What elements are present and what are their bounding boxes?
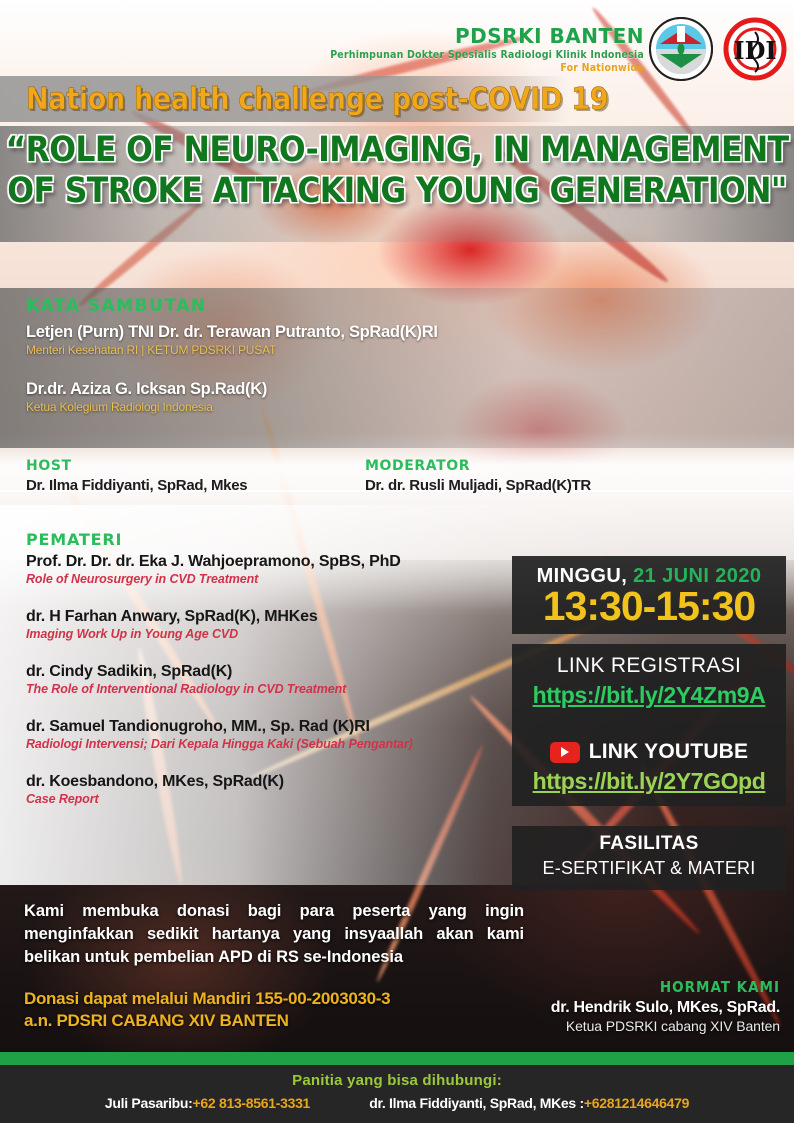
title-line-2: OF STROKE ATTACKING YOUNG GENERATION": [0, 171, 794, 212]
signature-name: dr. Hendrik Sulo, MKes, SpRad.: [551, 999, 780, 1017]
sambutan-person-role: Ketua Kolegium Radiologi Indonesia: [26, 400, 546, 414]
org-subtitle-secondary: For Nationwide: [330, 62, 644, 74]
footer-contact-name-2: dr. Ilma Fiddiyanti, SpRad, MKes :: [369, 1095, 584, 1111]
speaker-name: Prof. Dr. Dr. dr. Eka J. Wahjoepramono, …: [26, 553, 526, 571]
registration-label: LINK REGISTRASI: [512, 654, 786, 678]
footer-contact-number-1[interactable]: +62 813-8561-3331: [193, 1095, 311, 1111]
speaker-item: Prof. Dr. Dr. dr. Eka J. Wahjoepramono, …: [26, 553, 526, 586]
speaker-topic: Imaging Work Up in Young Age CVD: [26, 627, 526, 641]
page-title: “ROLE OF NEURO-IMAGING, IN MANAGEMENT OF…: [0, 130, 794, 211]
pemateri-heading: PEMATERI: [26, 530, 526, 549]
sambutan-person: Letjen (Purn) TNI Dr. dr. Terawan Putran…: [26, 323, 546, 357]
organization-header: PDSRKI BANTEN Perhimpunan Dokter Spesial…: [330, 24, 644, 74]
facilities-box: FASILITAS E-SERTIFIKAT & MATERI: [512, 826, 786, 890]
signature-heading: HORMAT KAMI: [551, 978, 780, 996]
speaker-item: dr. Koesbandono, MKes, SpRad(K) Case Rep…: [26, 773, 526, 806]
registration-link[interactable]: https://bit.ly/2Y4Zm9A: [512, 682, 786, 709]
host-heading: HOST: [26, 458, 247, 474]
host-name: Dr. Ilma Fiddiyanti, SpRad, Mkes: [26, 477, 247, 494]
speaker-item: dr. Samuel Tandionugroho, MM., Sp. Rad (…: [26, 718, 526, 751]
speaker-name: dr. H Farhan Anwary, SpRad(K), MHKes: [26, 608, 526, 626]
schedule-time: 13:30-15:30: [512, 586, 786, 627]
donation-account-line-2: a.n. PDSRI CABANG XIV BANTEN: [24, 1010, 524, 1032]
sambutan-person: Dr.dr. Aziza G. Icksan Sp.Rad(K) Ketua K…: [26, 380, 546, 414]
pemateri-section: PEMATERI Prof. Dr. Dr. dr. Eka J. Wahjoe…: [26, 530, 526, 806]
speaker-item: dr. Cindy Sadikin, SpRad(K) The Role of …: [26, 663, 526, 696]
org-subtitle: Perhimpunan Dokter Spesialis Radiologi K…: [330, 49, 644, 61]
facilities-heading: FASILITAS: [512, 833, 786, 855]
footer-heading: Panitia yang bisa dihubungi:: [0, 1072, 794, 1089]
speaker-topic: Radiologi Intervensi; Dari Kepala Hingga…: [26, 737, 526, 751]
speaker-name: dr. Cindy Sadikin, SpRad(K): [26, 663, 526, 681]
youtube-icon: [550, 742, 580, 763]
donation-paragraph: Kami membuka donasi bagi para peserta ya…: [24, 900, 524, 968]
speaker-item: dr. H Farhan Anwary, SpRad(K), MHKes Ima…: [26, 608, 526, 641]
sambutan-person-name: Dr.dr. Aziza G. Icksan Sp.Rad(K): [26, 380, 546, 399]
title-line-1: “ROLE OF NEURO-IMAGING, IN MANAGEMENT: [5, 130, 788, 170]
host-moderator-row: HOST Dr. Ilma Fiddiyanti, SpRad, Mkes MO…: [0, 458, 794, 514]
footer-contacts: Juli Pasaribu:+62 813-8561-3331 dr. Ilma…: [0, 1095, 794, 1111]
footer: Panitia yang bisa dihubungi: Juli Pasari…: [0, 1065, 794, 1123]
idi-logo: IDI: [722, 16, 788, 82]
signature-role: Ketua PDSRKI cabang XIV Banten: [551, 1018, 780, 1034]
sambutan-person-role: Menteri Kesehatan RI | KETUM PDSRKI PUSA…: [26, 343, 546, 357]
schedule-box: MINGGU, 21 JUNI 2020 13:30-15:30: [512, 556, 786, 634]
donation-account-line-1: Donasi dapat melalui Mandiri 155-00-2003…: [24, 988, 524, 1010]
subtitle-banner-text: Nation health challenge post-COVID 19: [26, 82, 608, 117]
donation-account: Donasi dapat melalui Mandiri 155-00-2003…: [24, 988, 524, 1032]
webinar-poster: PDSRKI BANTEN Perhimpunan Dokter Spesial…: [0, 0, 794, 1123]
org-title: PDSRKI BANTEN: [330, 24, 644, 48]
sambutan-person-name: Letjen (Purn) TNI Dr. dr. Terawan Putran…: [26, 323, 546, 342]
moderator-heading: MODERATOR: [365, 458, 591, 474]
sambutan-heading: KATA SAMBUTAN: [26, 296, 546, 316]
footer-green-bar: [0, 1052, 794, 1065]
youtube-link[interactable]: https://bit.ly/2Y7GOpd: [512, 768, 786, 795]
youtube-label-row: LINK YOUTUBE: [512, 740, 786, 764]
speaker-topic: Role of Neurosurgery in CVD Treatment: [26, 572, 526, 586]
speaker-name: dr. Koesbandono, MKes, SpRad(K): [26, 773, 526, 791]
moderator-block: MODERATOR Dr. dr. Rusli Muljadi, SpRad(K…: [365, 458, 591, 494]
signature-block: HORMAT KAMI dr. Hendrik Sulo, MKes, SpRa…: [551, 978, 780, 1034]
facilities-items: E-SERTIFIKAT & MATERI: [512, 858, 786, 879]
links-box: LINK REGISTRASI https://bit.ly/2Y4Zm9A L…: [512, 644, 786, 806]
donation-section: Kami membuka donasi bagi para peserta ya…: [24, 900, 524, 1032]
sambutan-section: KATA SAMBUTAN Letjen (Purn) TNI Dr. dr. …: [26, 296, 546, 414]
speaker-topic: Case Report: [26, 792, 526, 806]
pdsrki-emblem-logo: [648, 16, 714, 82]
footer-contact-name-1: Juli Pasaribu:: [105, 1095, 193, 1111]
footer-contact-number-2[interactable]: +6281214646479: [584, 1095, 689, 1111]
host-block: HOST Dr. Ilma Fiddiyanti, SpRad, Mkes: [26, 458, 247, 494]
moderator-name: Dr. dr. Rusli Muljadi, SpRad(K)TR: [365, 477, 591, 494]
speaker-name: dr. Samuel Tandionugroho, MM., Sp. Rad (…: [26, 718, 526, 736]
youtube-label: LINK YOUTUBE: [589, 740, 749, 764]
speaker-topic: The Role of Interventional Radiology in …: [26, 682, 526, 696]
